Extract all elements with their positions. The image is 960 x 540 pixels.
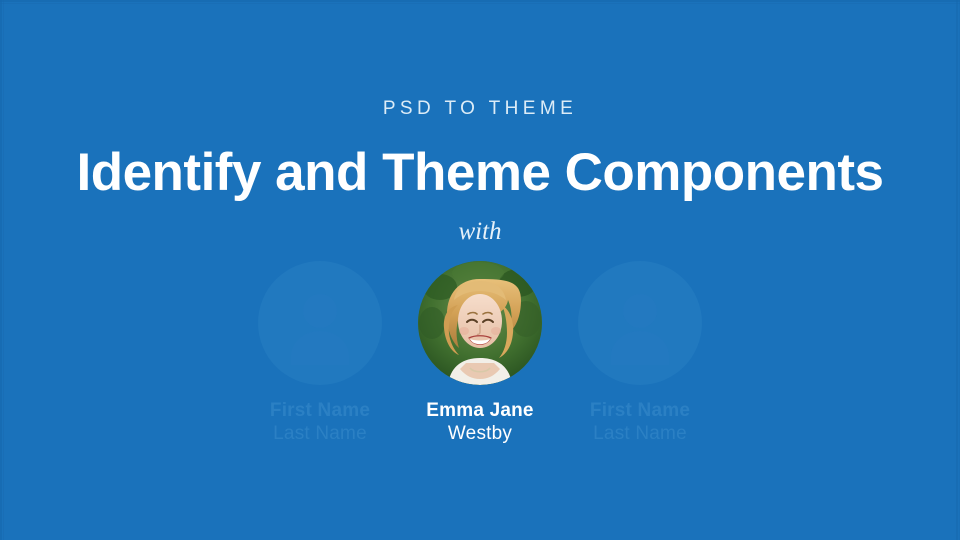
slide-edge-top: [0, 0, 960, 2]
slide-edge-top-inner: [0, 3, 960, 4]
slide-edge-left: [0, 0, 2, 540]
user-placeholder-icon: [578, 261, 702, 385]
slide-title: Identify and Theme Components: [0, 142, 960, 204]
presenter-block: Emma Jane Westby: [380, 261, 580, 445]
title-slide: PSD TO THEME Identify and Theme Componen…: [0, 0, 960, 540]
placeholder-avatar-right: [578, 261, 702, 385]
presenter-avatar: [418, 261, 542, 385]
placeholder-avatar-left: [258, 261, 382, 385]
user-placeholder-icon: [258, 261, 382, 385]
slide-edge-right: [956, 0, 958, 540]
slide-edge-left-inner: [3, 0, 4, 540]
presenter-first-name: Emma Jane: [380, 399, 580, 422]
presenter-last-name: Westby: [380, 422, 580, 445]
slide-connector-with: with: [0, 216, 960, 248]
slide-eyebrow: PSD TO THEME: [0, 97, 960, 121]
